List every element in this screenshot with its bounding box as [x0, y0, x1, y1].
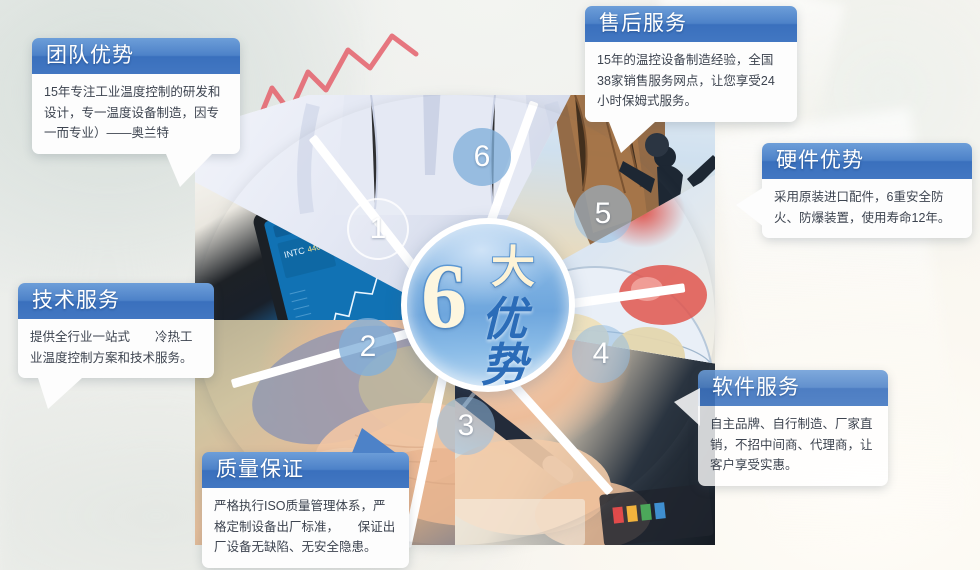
center-number-6: 6	[421, 250, 467, 342]
callout-tech-body: 提供全行业一站式 冷热工业温度控制方案和技术服务。	[18, 319, 214, 378]
center-char-da: 大	[491, 246, 535, 290]
badge-3-label: 3	[458, 411, 475, 441]
badge-2-label: 2	[360, 332, 377, 362]
callout-quality-tail	[352, 428, 396, 454]
callout-after-title: 售后服务	[585, 6, 797, 42]
center-logo-badge[interactable]: 6 大 优势	[401, 218, 575, 392]
callout-hardware-advantage[interactable]: 硬件优势 采用原装进口配件，6重安全防火、防爆装置，使用寿命12年。	[762, 143, 972, 238]
callout-hardware-title: 硬件优势	[762, 143, 972, 179]
callout-software-tail	[674, 388, 700, 426]
callout-after-sales-service[interactable]: 售后服务 15年的温控设备制造经验，全国38家销售服务网点，让您享受24小时保姆…	[585, 6, 797, 122]
badge-6[interactable]: 6	[453, 128, 511, 186]
callout-quality-assurance[interactable]: 质量保证 严格执行ISO质量管理体系，严格定制设备出厂标准， 保证出厂设备无缺陷…	[202, 452, 409, 568]
callout-tech-tail	[38, 378, 82, 410]
callout-hardware-body: 采用原装进口配件，6重安全防火、防爆装置，使用寿命12年。	[762, 179, 972, 238]
badge-1[interactable]: 1	[347, 198, 409, 260]
badge-6-label: 6	[474, 142, 491, 172]
callout-team-tail	[166, 154, 212, 188]
callout-quality-body: 严格执行ISO质量管理体系，严格定制设备出厂标准， 保证出厂设备无缺陷、无安全隐…	[202, 488, 409, 568]
callout-team-title: 团队优势	[32, 38, 240, 74]
callout-team-advantage[interactable]: 团队优势 15年专注工业温度控制的研发和设计，专一温度设备制造，因专一而专业）—…	[32, 38, 240, 154]
callout-quality-title: 质量保证	[202, 452, 409, 488]
center-word-youshi: 优势	[481, 296, 569, 386]
callout-team-body: 15年专注工业温度控制的研发和设计，专一温度设备制造，因专一而专业）——奥兰特	[32, 74, 240, 154]
callout-technical-service[interactable]: 技术服务 提供全行业一站式 冷热工业温度控制方案和技术服务。	[18, 283, 214, 378]
badge-3[interactable]: 3	[437, 397, 495, 455]
badge-1-label: 1	[370, 214, 387, 244]
infographic-canvas: STOCK MARKET DATA INTC 440.96	[0, 0, 980, 570]
center-logo-inner: 6 大 优势	[407, 224, 569, 386]
callout-software-service[interactable]: 软件服务 自主品牌、自行制造、厂家直销，不招中间商、代理商，让客户享受实惠。	[698, 370, 888, 486]
badge-2[interactable]: 2	[339, 318, 397, 376]
badge-5-label: 5	[595, 199, 612, 229]
callout-software-title: 软件服务	[698, 370, 888, 406]
callout-tech-title: 技术服务	[18, 283, 214, 319]
badge-4[interactable]: 4	[572, 325, 630, 383]
badge-4-label: 4	[593, 339, 610, 369]
callout-hardware-tail	[736, 187, 764, 227]
callout-software-body: 自主品牌、自行制造、厂家直销，不招中间商、代理商，让客户享受实惠。	[698, 406, 888, 486]
badge-5[interactable]: 5	[574, 185, 632, 243]
callout-after-tail	[609, 122, 655, 154]
callout-after-body: 15年的温控设备制造经验，全国38家销售服务网点，让您享受24小时保姆式服务。	[585, 42, 797, 122]
